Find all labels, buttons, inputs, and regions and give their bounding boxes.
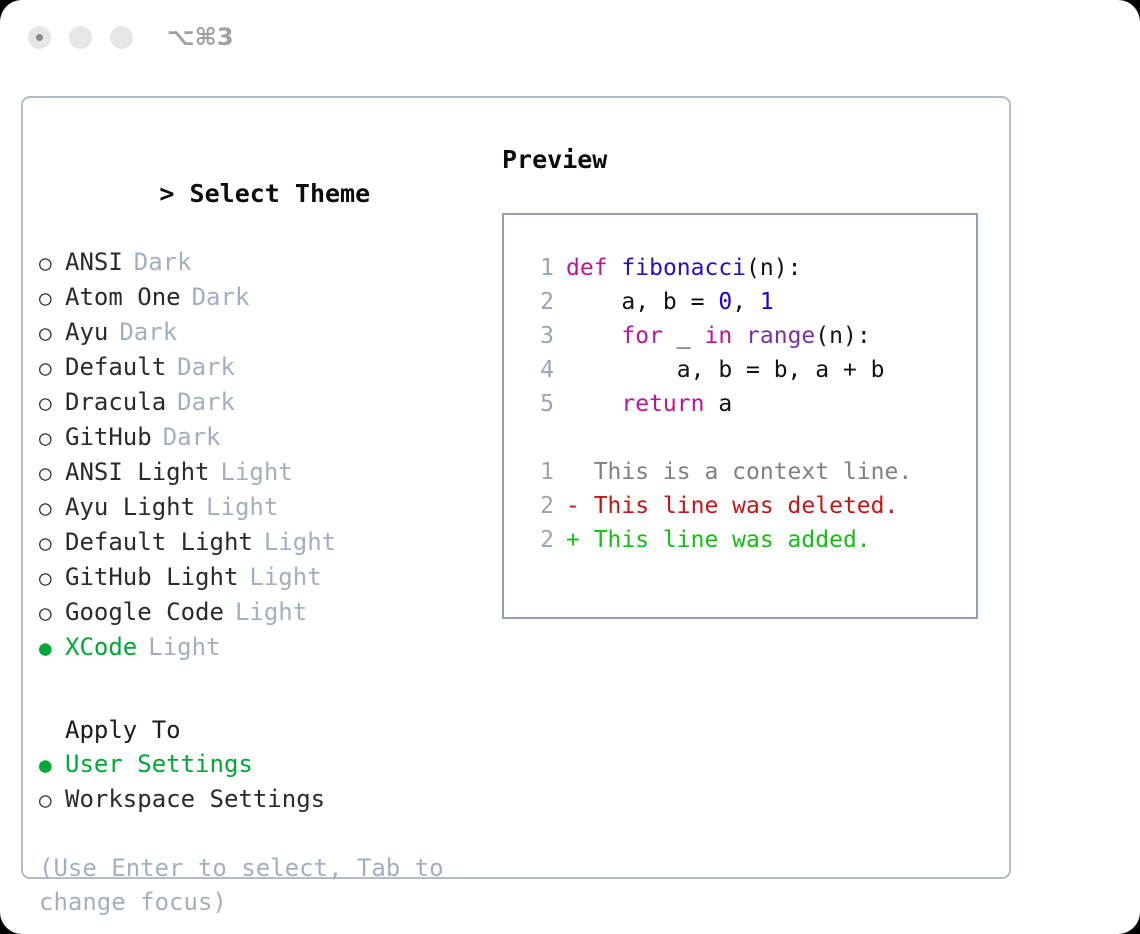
radio-unselected-icon: ○ <box>39 351 65 385</box>
code-sample: 1def fibonacci(n):2 a, b = 0, 13 for _ i… <box>526 251 976 421</box>
radio-unselected-icon: ○ <box>39 316 65 350</box>
token-txt: a, b = b, a + b <box>566 357 885 383</box>
theme-option-label: Ayu <box>65 315 108 349</box>
heading-caret-icon: > <box>159 179 174 208</box>
line-number: 2 <box>526 523 554 557</box>
radio-unselected-icon: ○ <box>39 491 65 525</box>
theme-selector-panel: > Select Theme ○ANSIDark○Atom OneDark○Ay… <box>21 96 1011 879</box>
code-line: 1def fibonacci(n): <box>526 251 976 285</box>
radio-selected-icon: ● <box>39 631 65 665</box>
token-txt <box>608 255 622 281</box>
theme-option-github[interactable]: ○GitHubDark <box>39 420 479 455</box>
theme-option-label: XCode <box>65 630 137 664</box>
theme-option-kind: Light <box>206 490 278 524</box>
token-txt: a <box>704 391 732 417</box>
apply-to-option-label: Workspace Settings <box>65 782 325 816</box>
app-window: ⌥⌘3 > Select Theme ○ANSIDark○Atom OneDar… <box>0 0 1140 934</box>
theme-option-kind: Dark <box>163 420 221 454</box>
radio-selected-icon: ● <box>39 748 65 782</box>
theme-option-list[interactable]: ○ANSIDark○Atom OneDark○AyuDark○DefaultDa… <box>39 245 479 665</box>
line-content: + This line was added. <box>566 523 871 557</box>
apply-to-heading: Apply To <box>39 713 479 747</box>
theme-option-label: Default Light <box>65 525 253 559</box>
theme-option-atom-one[interactable]: ○Atom OneDark <box>39 280 479 315</box>
radio-unselected-icon: ○ <box>39 246 65 280</box>
diff-sample: 1 This is a context line.2- This line wa… <box>526 455 976 557</box>
code-line: 3 for _ in range(n): <box>526 319 976 353</box>
theme-option-label: GitHub <box>65 420 152 454</box>
theme-option-label: Google Code <box>65 595 224 629</box>
token-txt: _ <box>663 323 705 349</box>
keyboard-shortcut-label: ⌥⌘3 <box>167 23 234 51</box>
theme-option-ansi[interactable]: ○ANSIDark <box>39 245 479 280</box>
diff-line: 2- This line was deleted. <box>526 489 976 523</box>
token-num: 0 <box>718 289 732 315</box>
code-diff-separator <box>526 421 976 455</box>
radio-unselected-icon: ○ <box>39 421 65 455</box>
theme-option-kind: Light <box>235 595 307 629</box>
keyboard-hint-text: (Use Enter to select, Tab to change focu… <box>39 851 449 919</box>
radio-unselected-icon: ○ <box>39 526 65 560</box>
theme-list-heading: > Select Theme <box>39 143 479 245</box>
theme-option-kind: Light <box>221 455 293 489</box>
token-bi: range <box>746 323 815 349</box>
line-number: 3 <box>526 319 554 353</box>
line-number: 1 <box>526 251 554 285</box>
apply-to-option-user-settings[interactable]: ●User Settings <box>39 747 479 782</box>
token-txt: (n): <box>746 255 801 281</box>
window-dot-third-icon[interactable] <box>110 26 133 49</box>
window-dot-second-icon[interactable] <box>69 26 92 49</box>
token-add: + This line was added. <box>566 527 871 553</box>
theme-option-kind: Dark <box>177 385 235 419</box>
token-kw: for <box>621 323 663 349</box>
line-number: 4 <box>526 353 554 387</box>
theme-option-kind: Light <box>264 525 336 559</box>
theme-option-kind: Light <box>148 630 220 664</box>
code-line: 2 a, b = 0, 1 <box>526 285 976 319</box>
preview-box: 1def fibonacci(n):2 a, b = 0, 13 for _ i… <box>502 213 978 619</box>
line-number: 5 <box>526 387 554 421</box>
theme-option-github-light[interactable]: ○GitHub LightLight <box>39 560 479 595</box>
theme-option-label: Ayu Light <box>65 490 195 524</box>
apply-to-option-label: User Settings <box>65 747 253 781</box>
line-number: 2 <box>526 285 554 319</box>
theme-option-kind: Dark <box>192 280 250 314</box>
line-number: 2 <box>526 489 554 523</box>
line-content: a, b = b, a + b <box>566 353 885 387</box>
theme-option-dracula[interactable]: ○DraculaDark <box>39 385 479 420</box>
theme-list-column: > Select Theme ○ANSIDark○Atom OneDark○Ay… <box>39 143 479 919</box>
line-content: def fibonacci(n): <box>566 251 801 285</box>
line-content: - This line was deleted. <box>566 489 898 523</box>
line-number: 1 <box>526 455 554 489</box>
theme-option-label: GitHub Light <box>65 560 238 594</box>
preview-column: Preview 1def fibonacci(n):2 a, b = 0, 13… <box>502 143 992 619</box>
radio-unselected-icon: ○ <box>39 561 65 595</box>
token-txt: , <box>732 289 760 315</box>
theme-option-google-code[interactable]: ○Google CodeLight <box>39 595 479 630</box>
diff-line: 1 This is a context line. <box>526 455 976 489</box>
radio-unselected-icon: ○ <box>39 456 65 490</box>
line-content: return a <box>566 387 732 421</box>
radio-unselected-icon: ○ <box>39 783 65 817</box>
code-line: 5 return a <box>526 387 976 421</box>
list-spacer <box>39 665 479 713</box>
theme-option-default-light[interactable]: ○Default LightLight <box>39 525 479 560</box>
token-kw: def <box>566 255 608 281</box>
token-txt <box>732 323 746 349</box>
code-line: 4 a, b = b, a + b <box>526 353 976 387</box>
theme-option-label: ANSI <box>65 245 123 279</box>
theme-option-label: ANSI Light <box>65 455 210 489</box>
theme-option-label: Atom One <box>65 280 181 314</box>
theme-option-kind: Dark <box>177 350 235 384</box>
line-content: for _ in range(n): <box>566 319 871 353</box>
theme-option-kind: Dark <box>119 315 177 349</box>
line-content: a, b = 0, 1 <box>566 285 774 319</box>
radio-unselected-icon: ○ <box>39 281 65 315</box>
theme-option-ayu-light[interactable]: ○Ayu LightLight <box>39 490 479 525</box>
token-kw: return <box>621 391 704 417</box>
apply-to-option-list[interactable]: ●User Settings○Workspace Settings <box>39 747 479 817</box>
theme-option-ayu[interactable]: ○AyuDark <box>39 315 479 350</box>
token-ctx: This is a context line. <box>566 459 912 485</box>
diff-line: 2+ This line was added. <box>526 523 976 557</box>
theme-option-label: Default <box>65 350 166 384</box>
theme-option-xcode[interactable]: ●XCodeLight <box>39 630 479 665</box>
theme-option-kind: Light <box>249 560 321 594</box>
theme-option-default[interactable]: ○DefaultDark <box>39 350 479 385</box>
token-txt: a, b = <box>566 289 718 315</box>
token-txt <box>566 391 621 417</box>
page-title: Select Theme <box>190 179 371 208</box>
title-bar: ⌥⌘3 <box>0 0 1140 78</box>
window-controls[interactable] <box>28 26 133 49</box>
preview-heading: Preview <box>502 143 992 177</box>
token-txt: (n): <box>815 323 870 349</box>
token-kw: in <box>704 323 732 349</box>
token-fn: fibonacci <box>621 255 746 281</box>
theme-option-ansi-light[interactable]: ○ANSI LightLight <box>39 455 479 490</box>
theme-option-kind: Dark <box>134 245 192 279</box>
theme-option-label: Dracula <box>65 385 166 419</box>
window-dot-active-icon[interactable] <box>28 26 51 49</box>
token-txt <box>566 323 621 349</box>
radio-unselected-icon: ○ <box>39 596 65 630</box>
line-content: This is a context line. <box>566 455 912 489</box>
token-del: - This line was deleted. <box>566 493 898 519</box>
radio-unselected-icon: ○ <box>39 386 65 420</box>
token-num: 1 <box>760 289 774 315</box>
apply-to-option-workspace-settings[interactable]: ○Workspace Settings <box>39 782 479 817</box>
